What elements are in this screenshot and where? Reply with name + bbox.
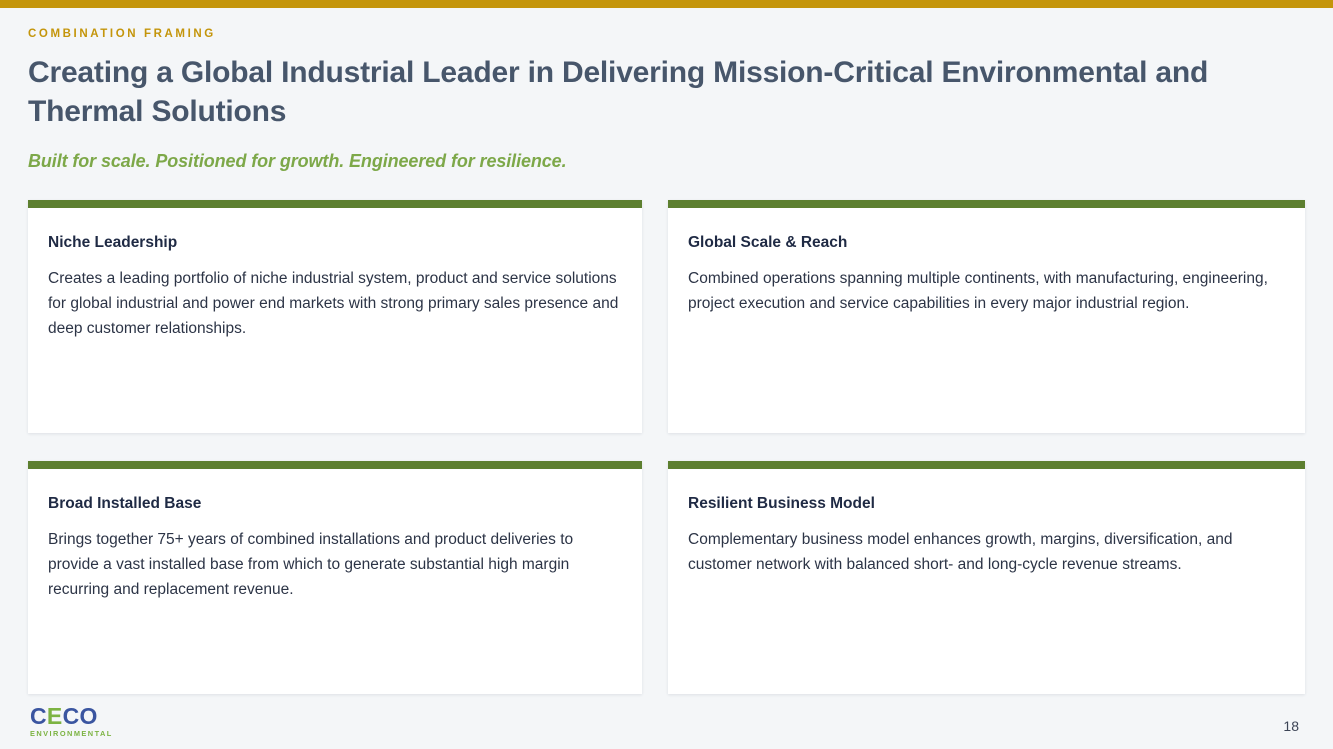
card-body: Resilient Business Model Complementary b… [668, 469, 1305, 577]
feature-card-niche-leadership: Niche Leadership Creates a leading portf… [28, 200, 642, 433]
feature-card-grid: Niche Leadership Creates a leading portf… [28, 200, 1305, 694]
card-accent-bar [28, 200, 642, 208]
card-accent-bar [28, 461, 642, 469]
top-accent-bar [0, 0, 1333, 8]
feature-card-resilient-business-model: Resilient Business Model Complementary b… [668, 461, 1305, 694]
card-description: Brings together 75+ years of combined in… [48, 527, 620, 602]
feature-card-global-scale-reach: Global Scale & Reach Combined operations… [668, 200, 1305, 433]
card-accent-bar [668, 200, 1305, 208]
feature-card-broad-installed-base: Broad Installed Base Brings together 75+… [28, 461, 642, 694]
card-heading: Global Scale & Reach [688, 234, 1283, 253]
ceco-environmental-logo: CECO ENVIRONMENTAL [30, 705, 113, 737]
card-body: Niche Leadership Creates a leading portf… [28, 208, 642, 341]
card-description: Creates a leading portfolio of niche ind… [48, 266, 620, 341]
page-number: 18 [1283, 719, 1299, 733]
logo-wordmark: CECO [30, 705, 113, 728]
logo-letter-e: E [47, 703, 63, 729]
slide-header: COMBINATION FRAMING Creating a Global In… [28, 8, 1308, 172]
logo-letter-o: O [80, 703, 98, 729]
card-body: Global Scale & Reach Combined operations… [668, 208, 1305, 316]
eyebrow-label: COMBINATION FRAMING [28, 29, 1308, 41]
card-heading: Niche Leadership [48, 234, 620, 253]
logo-tagline: ENVIRONMENTAL [30, 730, 113, 737]
page-title: Creating a Global Industrial Leader in D… [28, 53, 1238, 131]
card-description: Combined operations spanning multiple co… [688, 266, 1283, 316]
card-accent-bar [668, 461, 1305, 469]
card-heading: Broad Installed Base [48, 495, 620, 514]
logo-letter-c-second: C [63, 703, 80, 729]
slide-subtitle: Built for scale. Positioned for growth. … [28, 151, 1308, 173]
card-description: Complementary business model enhances gr… [688, 527, 1283, 577]
card-body: Broad Installed Base Brings together 75+… [28, 469, 642, 602]
logo-letter-c-first: C [30, 703, 47, 729]
card-heading: Resilient Business Model [688, 495, 1283, 514]
